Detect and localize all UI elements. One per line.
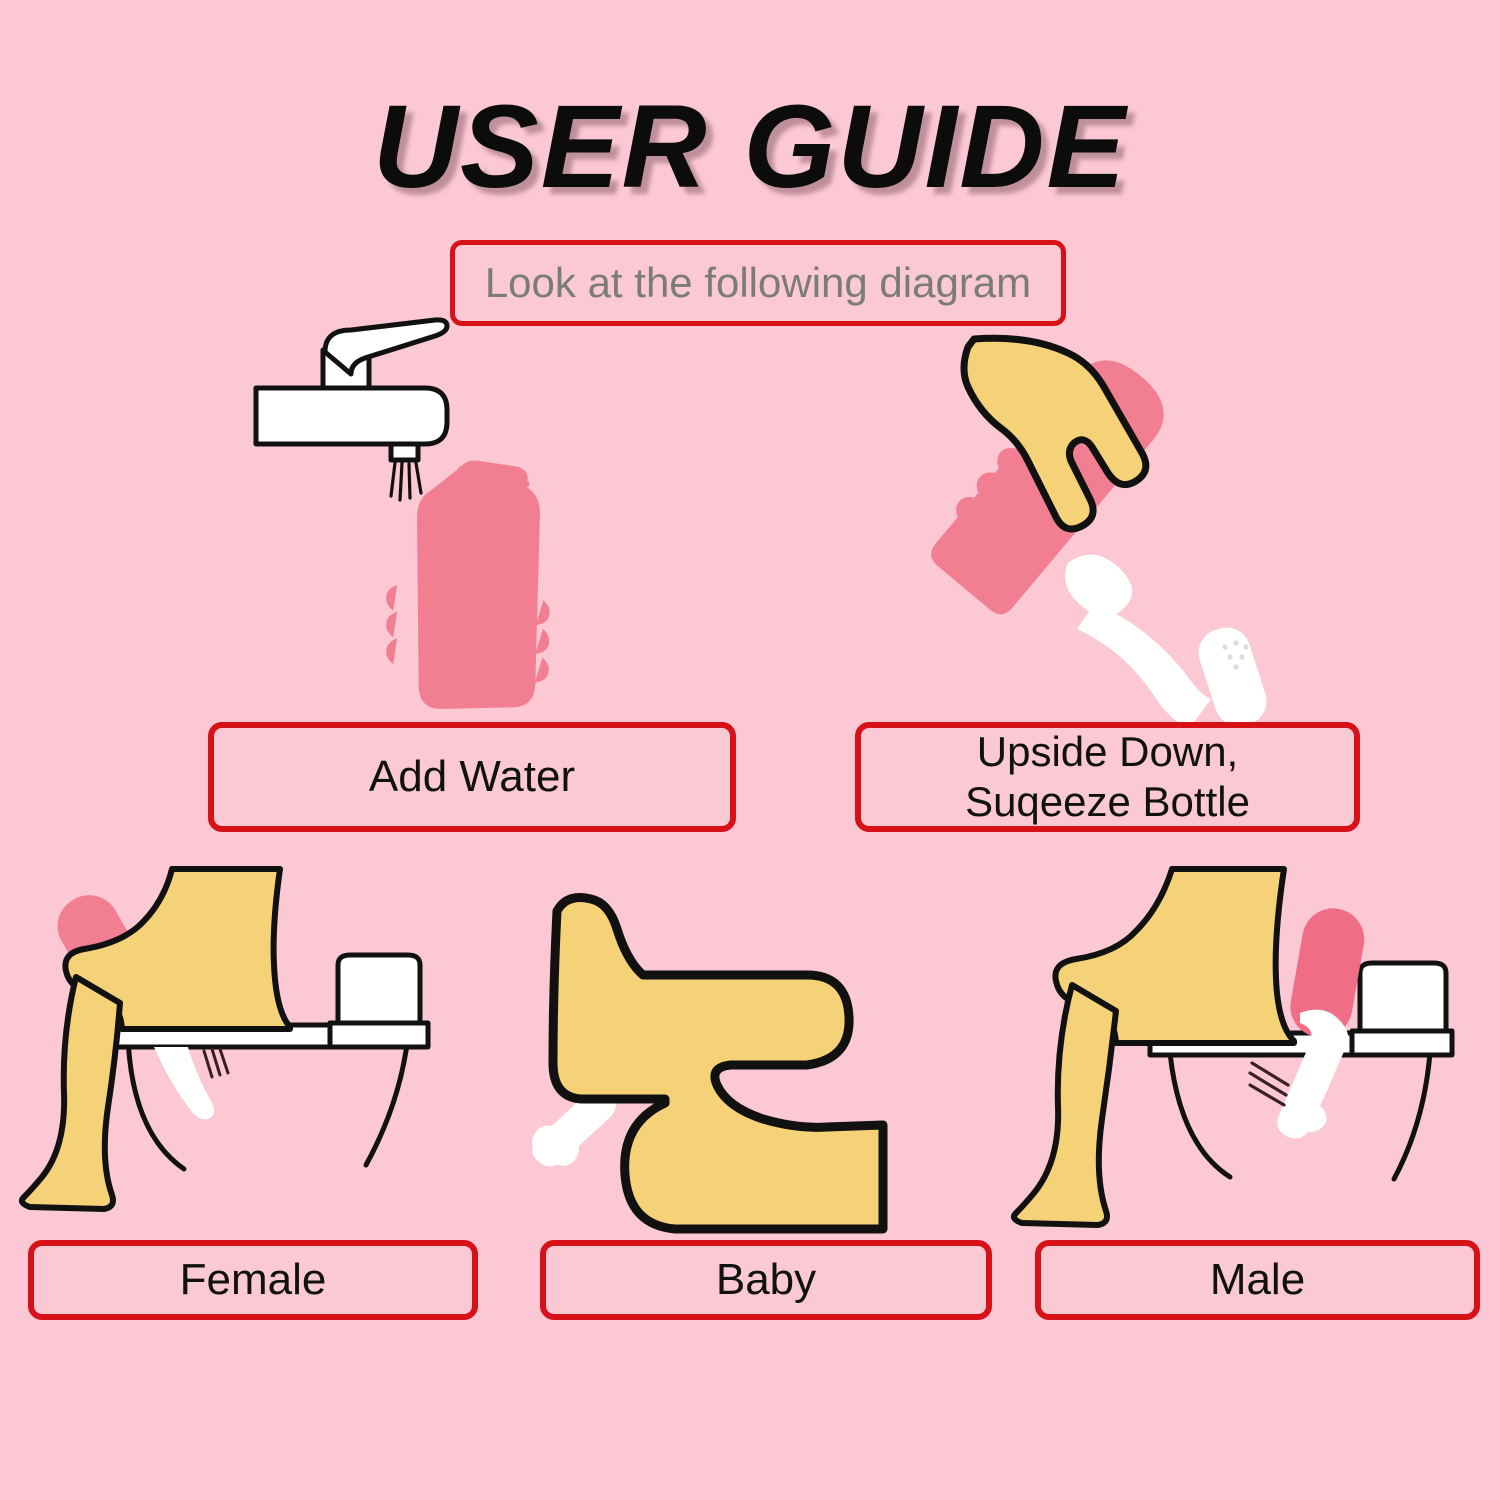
subtitle-text: Look at the following diagram bbox=[485, 257, 1031, 309]
female-on-toilet-icon bbox=[20, 865, 490, 1240]
label-upside-down: Upside Down, Suqeeze Bottle bbox=[855, 722, 1360, 832]
label-baby-text: Baby bbox=[716, 1254, 816, 1306]
user-guide-page: USER GUIDE Look at the following diagram bbox=[0, 0, 1500, 1500]
hand-squeezing-inverted-bottle-icon bbox=[880, 335, 1300, 735]
label-add-water-text: Add Water bbox=[369, 751, 575, 803]
label-female-text: Female bbox=[180, 1254, 327, 1306]
label-add-water: Add Water bbox=[208, 722, 736, 832]
baby-lying-icon bbox=[545, 875, 955, 1245]
label-upside-down-line2: Suqeeze Bottle bbox=[965, 777, 1250, 827]
label-male: Male bbox=[1035, 1240, 1480, 1320]
faucet-filling-bottle-icon bbox=[250, 330, 630, 730]
male-on-toilet-icon bbox=[1000, 865, 1490, 1240]
page-title: USER GUIDE bbox=[0, 88, 1500, 206]
label-male-text: Male bbox=[1210, 1254, 1305, 1306]
label-upside-down-line1: Upside Down, bbox=[965, 727, 1250, 777]
label-baby: Baby bbox=[540, 1240, 992, 1320]
label-female: Female bbox=[28, 1240, 478, 1320]
subtitle-callout-box: Look at the following diagram bbox=[450, 240, 1066, 326]
